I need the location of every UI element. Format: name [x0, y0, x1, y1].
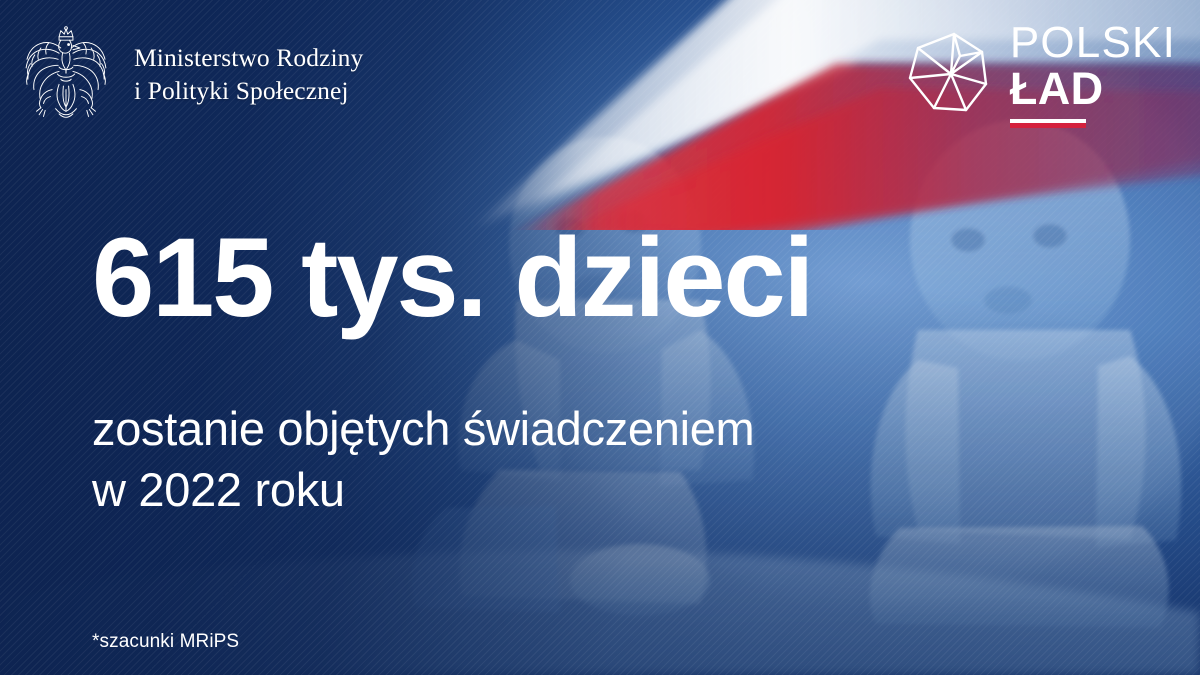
poster-canvas: Ministerstwo Rodziny i Polityki Społeczn… [0, 0, 1200, 675]
copy-block: 615 tys. dzieci zostanie objętych świadc… [92, 222, 812, 520]
polish-eagle-emblem-icon [14, 22, 118, 126]
subheadline-line2: w 2022 roku [92, 459, 812, 520]
ministry-name: Ministerstwo Rodziny i Polityki Społeczn… [134, 41, 363, 107]
source-footnote: *szacunki MRiPS [92, 631, 239, 653]
polski-lad-word-polski: POLSKI [1010, 22, 1176, 64]
page-headline: 615 tys. dzieci [92, 222, 812, 334]
page-subheadline: zostanie objętych świadczeniem w 2022 ro… [92, 398, 812, 520]
polski-lad-wordmark: POLSKI ŁAD [1010, 22, 1176, 128]
flag-bar-red [1010, 123, 1086, 128]
polski-lad-logo-lockup: POLSKI ŁAD [904, 22, 1176, 128]
subheadline-line1: zostanie objętych świadczeniem [92, 402, 754, 455]
polski-lad-word-lad: ŁAD [1010, 66, 1176, 112]
ministry-logo-lockup: Ministerstwo Rodziny i Polityki Społeczn… [14, 22, 363, 126]
ministry-name-line1: Ministerstwo Rodziny [134, 41, 363, 74]
polski-lad-flag-bar [1010, 119, 1086, 128]
ministry-name-line2: i Polityki Społecznej [134, 74, 363, 107]
polski-lad-polygon-mark-icon [904, 26, 996, 122]
